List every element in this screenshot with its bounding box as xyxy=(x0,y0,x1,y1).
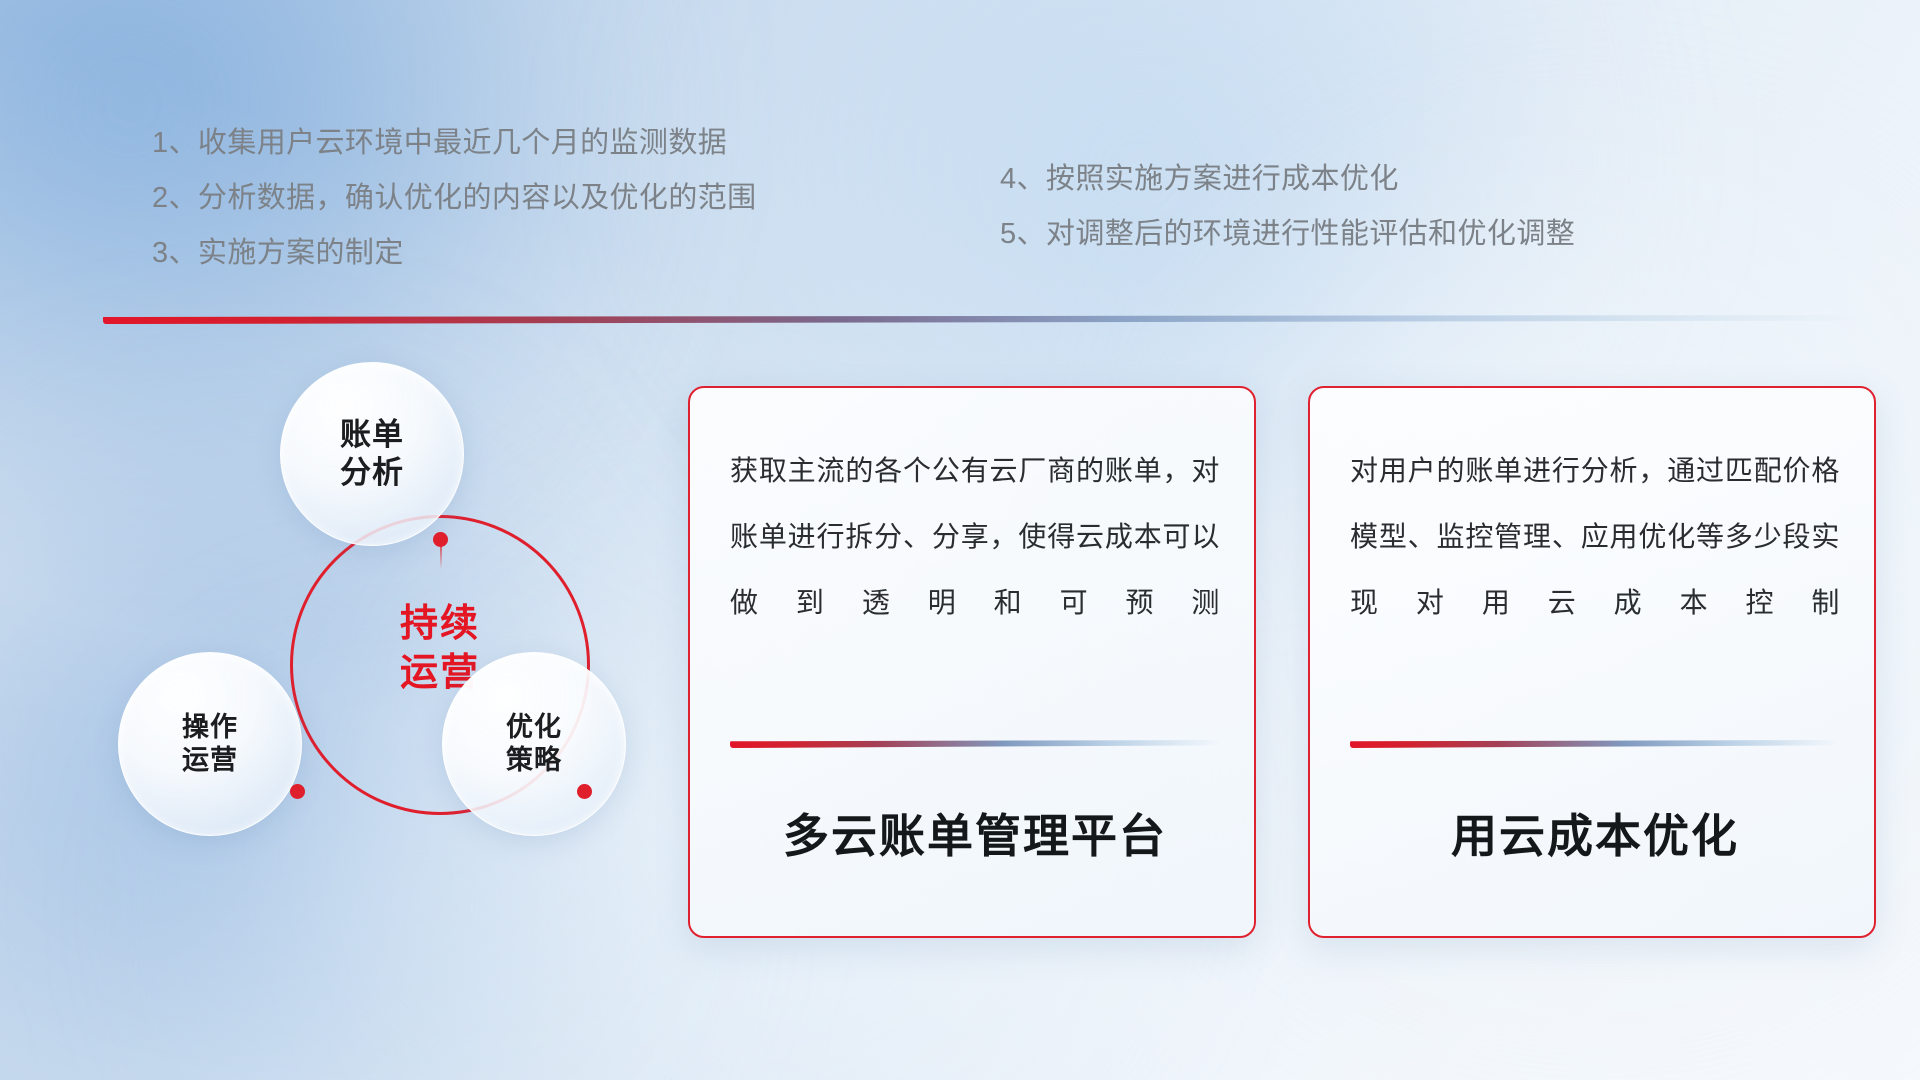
venn-bubble-line1: 账单 xyxy=(340,416,404,454)
step-item-5: 5、对调整后的环境进行性能评估和优化调整 xyxy=(1000,207,1575,262)
card-divider-line xyxy=(730,740,1220,748)
steps-left-column: 1、收集用户云环境中最近几个月的监测数据 2、分析数据，确认优化的内容以及优化的… xyxy=(152,116,757,281)
venn-bubble-line1: 操作 xyxy=(182,711,238,744)
venn-connector-tick xyxy=(440,545,442,569)
venn-bubble-bill-analysis[interactable]: 账单 分析 xyxy=(280,362,464,546)
venn-bubble-operations[interactable]: 操作 运营 xyxy=(118,652,302,836)
card-divider-line xyxy=(1350,740,1840,748)
venn-bubble-label: 优化 策略 xyxy=(506,711,562,778)
venn-bubble-line2: 分析 xyxy=(340,454,404,492)
venn-center-label-line1: 持续 xyxy=(290,600,590,649)
venn-bubble-label: 账单 分析 xyxy=(340,416,404,493)
card-cloud-cost-optimization[interactable]: 对用户的账单进行分析，通过匹配价格模型、监控管理、应用优化等多少段实现对用云成本… xyxy=(1308,386,1876,938)
card-title: 用云成本优化 xyxy=(1350,800,1840,866)
step-item-4: 4、按照实施方案进行成本优化 xyxy=(1000,152,1575,207)
step-item-2: 2、分析数据，确认优化的内容以及优化的范围 xyxy=(152,171,757,226)
card-body-text: 获取主流的各个公有云厂商的账单，对账单进行拆分、分享，使得云成本可以做到透明和可… xyxy=(730,438,1220,636)
venn-bubble-line2: 策略 xyxy=(506,744,562,777)
steps-right-column: 4、按照实施方案进行成本优化 5、对调整后的环境进行性能评估和优化调整 xyxy=(1000,152,1575,262)
venn-node-dot-top xyxy=(433,532,448,547)
venn-bubble-label: 操作 运营 xyxy=(182,711,238,778)
step-item-3: 3、实施方案的制定 xyxy=(152,226,757,281)
venn-diagram: 持续 运营 账单 分析 操作 运营 优化 策略 xyxy=(100,352,660,952)
step-item-1: 1、收集用户云环境中最近几个月的监测数据 xyxy=(152,116,757,171)
slide-canvas: 1、收集用户云环境中最近几个月的监测数据 2、分析数据，确认优化的内容以及优化的… xyxy=(0,0,1920,1080)
card-title: 多云账单管理平台 xyxy=(730,800,1220,866)
steps-section: 1、收集用户云环境中最近几个月的监测数据 2、分析数据，确认优化的内容以及优化的… xyxy=(0,0,1920,300)
card-body-text: 对用户的账单进行分析，通过匹配价格模型、监控管理、应用优化等多少段实现对用云成本… xyxy=(1350,438,1840,636)
card-multi-cloud-billing-platform[interactable]: 获取主流的各个公有云厂商的账单，对账单进行拆分、分享，使得云成本可以做到透明和可… xyxy=(688,386,1256,938)
venn-bubble-optimization-strategy[interactable]: 优化 策略 xyxy=(442,652,626,836)
venn-bubble-line2: 运营 xyxy=(182,744,238,777)
venn-bubble-line1: 优化 xyxy=(506,711,562,744)
venn-node-dot-bottom-right xyxy=(577,784,592,799)
venn-node-dot-bottom-left xyxy=(290,784,305,799)
